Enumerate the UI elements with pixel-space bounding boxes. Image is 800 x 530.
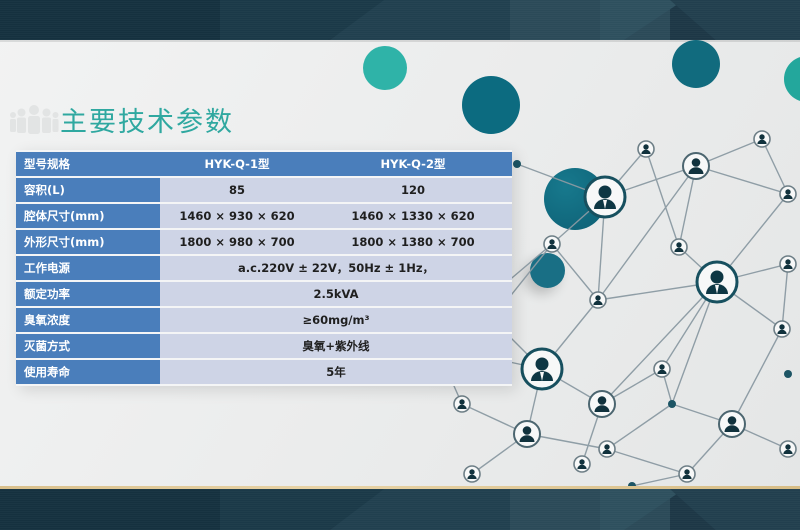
row-label: 外形尺寸(mm) <box>16 230 160 254</box>
column-header-model: 型号规格 <box>16 152 160 176</box>
row-value-shared: ≥60mg/m³ <box>160 308 512 332</box>
row-label: 工作电源 <box>16 256 160 280</box>
column-header-hykq2: HYK-Q-2型 <box>314 152 512 176</box>
top-decorative-band <box>0 0 800 40</box>
specification-table: 型号规格 HYK-Q-1型 HYK-Q-2型 容积(L)85120腔体尺寸(mm… <box>16 150 512 386</box>
slide-canvas: 主要技术参数 <box>0 0 800 530</box>
row-label: 容积(L) <box>16 178 160 202</box>
table-body: 容积(L)85120腔体尺寸(mm)1460 × 930 × 6201460 ×… <box>16 178 512 384</box>
band-texture <box>0 489 800 530</box>
table-row: 腔体尺寸(mm)1460 × 930 × 6201460 × 1330 × 62… <box>16 204 512 228</box>
bottom-decorative-band <box>0 489 800 530</box>
row-value-shared: a.c.220V ± 22V，50Hz ± 1Hz， <box>160 256 512 280</box>
table-row: 工作电源a.c.220V ± 22V，50Hz ± 1Hz， <box>16 256 512 280</box>
table-header-row: 型号规格 HYK-Q-1型 HYK-Q-2型 <box>16 152 512 176</box>
row-value-hykq2: 1800 × 1380 × 700 <box>314 230 512 254</box>
row-value-hykq2: 120 <box>314 178 512 202</box>
row-value-hykq1: 85 <box>160 178 314 202</box>
row-value-shared: 2.5kVA <box>160 282 512 306</box>
row-value-hykq1: 1800 × 980 × 700 <box>160 230 314 254</box>
row-value-shared: 5年 <box>160 360 512 384</box>
table-row: 灭菌方式臭氧+紫外线 <box>16 334 512 358</box>
slide-header: 主要技术参数 <box>0 42 800 104</box>
table-row: 容积(L)85120 <box>16 178 512 202</box>
row-value-hykq2: 1460 × 1330 × 620 <box>314 204 512 228</box>
table-row: 外形尺寸(mm)1800 × 980 × 7001800 × 1380 × 70… <box>16 230 512 254</box>
row-label: 臭氧浓度 <box>16 308 160 332</box>
table-row: 使用寿命5年 <box>16 360 512 384</box>
row-value-hykq1: 1460 × 930 × 620 <box>160 204 314 228</box>
row-value-shared: 臭氧+紫外线 <box>160 334 512 358</box>
row-label: 使用寿命 <box>16 360 160 384</box>
column-header-hykq1: HYK-Q-1型 <box>160 152 314 176</box>
table-row: 臭氧浓度≥60mg/m³ <box>16 308 512 332</box>
people-group-icon <box>8 104 60 138</box>
page-title: 主要技术参数 <box>60 100 234 139</box>
table-row: 额定功率2.5kVA <box>16 282 512 306</box>
row-label: 灭菌方式 <box>16 334 160 358</box>
row-label: 腔体尺寸(mm) <box>16 204 160 228</box>
band-texture <box>0 0 800 40</box>
row-label: 额定功率 <box>16 282 160 306</box>
